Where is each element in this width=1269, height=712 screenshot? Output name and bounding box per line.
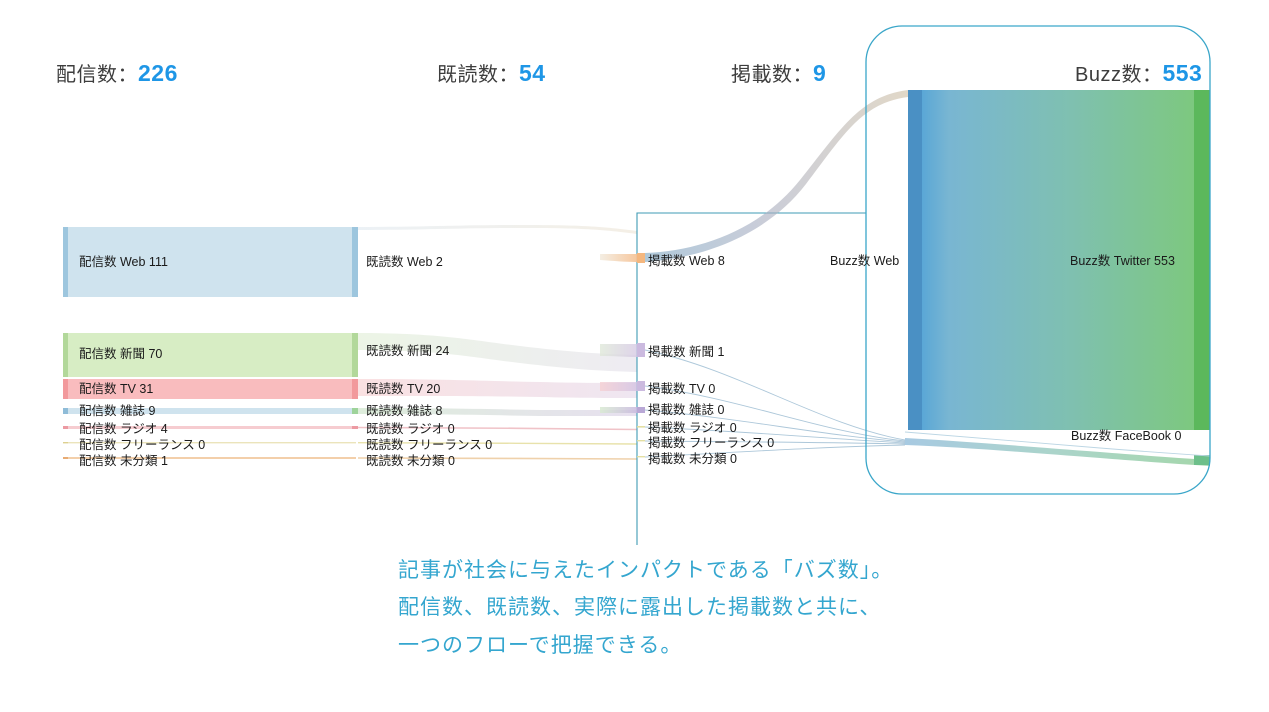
node-bar-haishin-tv[interactable] — [63, 379, 68, 399]
node-bar-keisai-zasshi[interactable] — [637, 407, 645, 413]
node-bar-buzz-facebook[interactable] — [1194, 455, 1210, 465]
node-bar-haishin-web-right — [352, 227, 358, 297]
node-bar-keisai-web[interactable] — [637, 253, 645, 263]
node-label-keisai-freelance: 掲載数 フリーランス 0 — [648, 437, 774, 450]
node-label-kidoku-web: 既読数 Web 2 — [366, 256, 443, 269]
node-label-kidoku-mibunrui: 既読数 未分類 0 — [366, 455, 455, 468]
links-col2-col3 — [600, 254, 637, 413]
node-label-buzz-facebook: Buzz数 FaceBook 0 — [1071, 430, 1181, 443]
node-label-kidoku-radio: 既読数 ラジオ 0 — [366, 423, 455, 436]
node-bar-keisai-freelance[interactable] — [637, 440, 645, 441]
link-keisai-web-to-buzz-twitter — [645, 90, 908, 262]
node-label-kidoku-freelance: 既読数 フリーランス 0 — [366, 439, 492, 452]
node-bar-haishin-shinbun[interactable] — [63, 333, 68, 377]
node-label-keisai-zasshi: 掲載数 雑誌 0 — [648, 404, 724, 417]
node-label-kidoku-tv: 既読数 TV 20 — [366, 383, 440, 396]
node-bar-haishin-radio[interactable] — [63, 426, 68, 429]
caption-line-1: 記事が社会に与えたインパクトである「バズ数」。 — [398, 552, 1098, 589]
link-kidoku-zasshi-to-keisai-zasshi — [600, 407, 637, 413]
node-bar-keisai-mibunrui[interactable] — [637, 456, 645, 457]
caption-line-2: 配信数、既読数、実際に露出した掲載数と共に、 — [398, 589, 1098, 626]
node-label-keisai-tv: 掲載数 TV 0 — [648, 383, 715, 396]
sankey-diagram-root: 配信数：226 既読数：54 掲載数：9 Buzz数：553 — [0, 0, 1269, 712]
node-bar-buzz-twitter[interactable] — [1194, 90, 1210, 430]
node-label-keisai-mibunrui: 掲載数 未分類 0 — [648, 453, 737, 466]
link-kidoku-tv-to-keisai-tv — [600, 382, 637, 391]
node-bar-haishin-web[interactable] — [63, 227, 68, 297]
node-label-keisai-radio: 掲載数 ラジオ 0 — [648, 422, 737, 435]
node-bar-haishin-freelance[interactable] — [63, 442, 68, 443]
node-label-haishin-zasshi: 配信数 雑誌 9 — [79, 405, 155, 418]
node-label-haishin-tv: 配信数 TV 31 — [79, 383, 153, 396]
node-label-keisai-web: 掲載数 Web 8 — [648, 255, 725, 268]
caption-line-3: 一つのフローで把握できる。 — [398, 627, 1098, 664]
column-3-nodes — [637, 253, 645, 457]
link-kidoku-web-to-keisai-web — [600, 254, 637, 262]
node-bar-haishin-mibunrui[interactable] — [63, 457, 68, 459]
node-bar-haishin-zasshi[interactable] — [63, 408, 68, 414]
node-bar-buzz-web[interactable] — [908, 90, 922, 430]
node-label-haishin-web: 配信数 Web 111 — [79, 256, 168, 269]
node-bar-keisai-radio[interactable] — [637, 426, 645, 428]
node-bar-keisai-tv[interactable] — [637, 381, 645, 391]
node-label-buzz-twitter: Buzz数 Twitter 553 — [1070, 255, 1175, 268]
node-bar-haishin-radio-right — [352, 426, 358, 429]
node-bar-haishin-shinbun-right — [352, 333, 358, 377]
link-haishin-web-to-kidoku-web — [358, 225, 637, 234]
node-label-kidoku-shinbun: 既読数 新聞 24 — [366, 345, 449, 358]
node-label-buzz-web: Buzz数 Web — [830, 255, 899, 268]
node-label-haishin-shinbun: 配信数 新聞 70 — [79, 348, 162, 361]
node-bar-haishin-zasshi-right — [352, 408, 358, 414]
node-label-haishin-radio: 配信数 ラジオ 4 — [79, 423, 168, 436]
node-label-haishin-freelance: 配信数 フリーランス 0 — [79, 439, 205, 452]
node-label-kidoku-zasshi: 既読数 雑誌 8 — [366, 405, 442, 418]
caption-block: 記事が社会に与えたインパクトである「バズ数」。 配信数、既読数、実際に露出した掲… — [398, 552, 1098, 664]
node-label-keisai-shinbun: 掲載数 新聞 1 — [648, 346, 724, 359]
node-bar-haishin-tv-right — [352, 379, 358, 399]
node-label-haishin-mibunrui: 配信数 未分類 1 — [79, 455, 168, 468]
link-kidoku-shinbun-to-keisai-shinbun — [600, 344, 637, 357]
node-bar-keisai-shinbun[interactable] — [637, 343, 645, 357]
